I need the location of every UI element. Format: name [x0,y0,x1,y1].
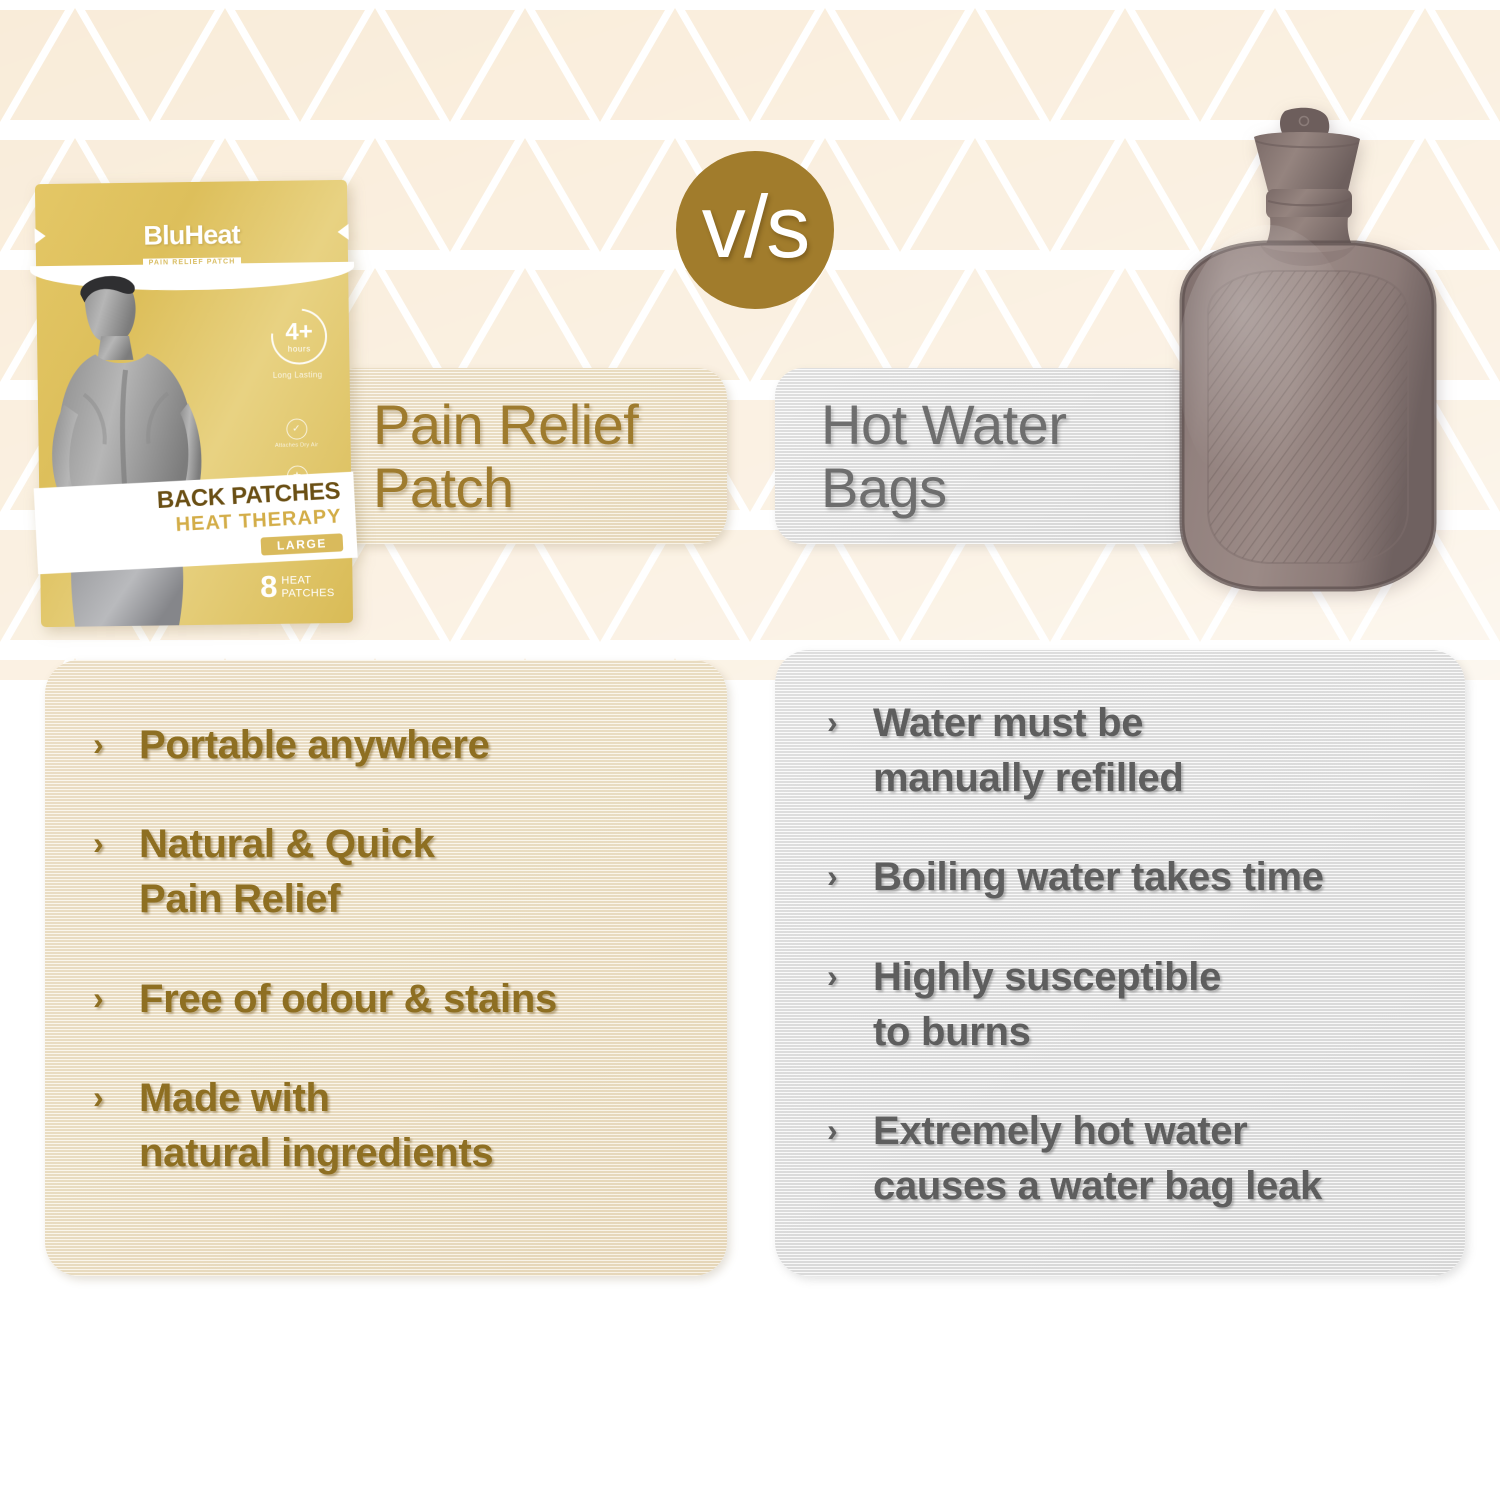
package-count-label: HEAT PATCHES [281,574,334,600]
package-size-badge: LARGE [261,533,344,555]
leaf-icon: ✓ [286,418,307,439]
list-item: › Portable anywhere [93,718,697,773]
list-item-label: Boiling water takes time [873,850,1324,905]
right-product-title: Hot Water Bags [821,394,1195,519]
package-count-number: 8 [260,573,278,602]
list-item-label: Free of odour & stains [139,972,557,1027]
chevron-right-icon: › [93,1077,139,1117]
versus-badge-label: v/s [702,183,808,271]
package-brand-logo: BluHeat PAIN RELIEF PATCH [35,218,348,271]
brand-tagline: PAIN RELIEF PATCH [143,257,242,268]
duration-note: Long Lasting [260,370,336,380]
right-title-card: Hot Water Bags [775,368,1195,544]
package-count: 8 HEAT PATCHES [260,573,335,603]
right-drawbacks-list: › Water must be manually refilled › Boil… [827,696,1441,1214]
hot-water-bag-image [1148,105,1438,597]
list-item-label: Natural & Quick Pain Relief [139,817,435,927]
chevron-right-icon: › [827,702,873,742]
package-feature-1: ✓ Attaches Dry Air [254,418,338,449]
chevron-right-icon: › [827,1110,873,1150]
versus-badge: v/s [676,151,834,309]
list-item: › Made with natural ingredients [93,1071,697,1181]
chevron-right-icon: › [93,978,139,1018]
left-title-card: Pain Relief Patch [345,368,727,544]
chevron-right-icon: › [93,724,139,764]
list-item: › Extremely hot water causes a water bag… [827,1104,1441,1214]
list-item-label: Highly susceptible to burns [873,950,1221,1060]
list-item: › Highly susceptible to burns [827,950,1441,1060]
left-benefits-card: › Portable anywhere › Natural & Quick Pa… [45,660,727,1276]
pain-relief-patch-package-image: BluHeat PAIN RELIEF PATCH [35,180,353,627]
list-item-label: Extremely hot water causes a water bag l… [873,1104,1322,1214]
package-label-band: BACK PATCHES HEAT THERAPY LARGE [34,472,358,575]
list-item-label: Portable anywhere [139,718,490,773]
right-drawbacks-card: › Water must be manually refilled › Boil… [775,650,1465,1276]
chevron-right-icon: › [827,956,873,996]
chevron-right-icon: › [827,856,873,896]
left-product-title: Pain Relief Patch [373,394,727,519]
duration-unit: hours [285,344,312,353]
list-item: › Boiling water takes time [827,850,1441,905]
list-item: › Natural & Quick Pain Relief [93,817,697,927]
package-feature-1-label: Attaches Dry Air [255,442,339,449]
duration-number: 4+ [285,320,313,344]
chevron-right-icon: › [93,823,139,863]
list-item: › Water must be manually refilled [827,696,1441,806]
list-item: › Free of odour & stains [93,972,697,1027]
left-benefits-list: › Portable anywhere › Natural & Quick Pa… [93,718,697,1181]
list-item-label: Made with natural ingredients [139,1071,493,1181]
brand-name: BluHeat [35,218,347,253]
package-model-photo [44,273,231,628]
list-item-label: Water must be manually refilled [873,696,1184,806]
